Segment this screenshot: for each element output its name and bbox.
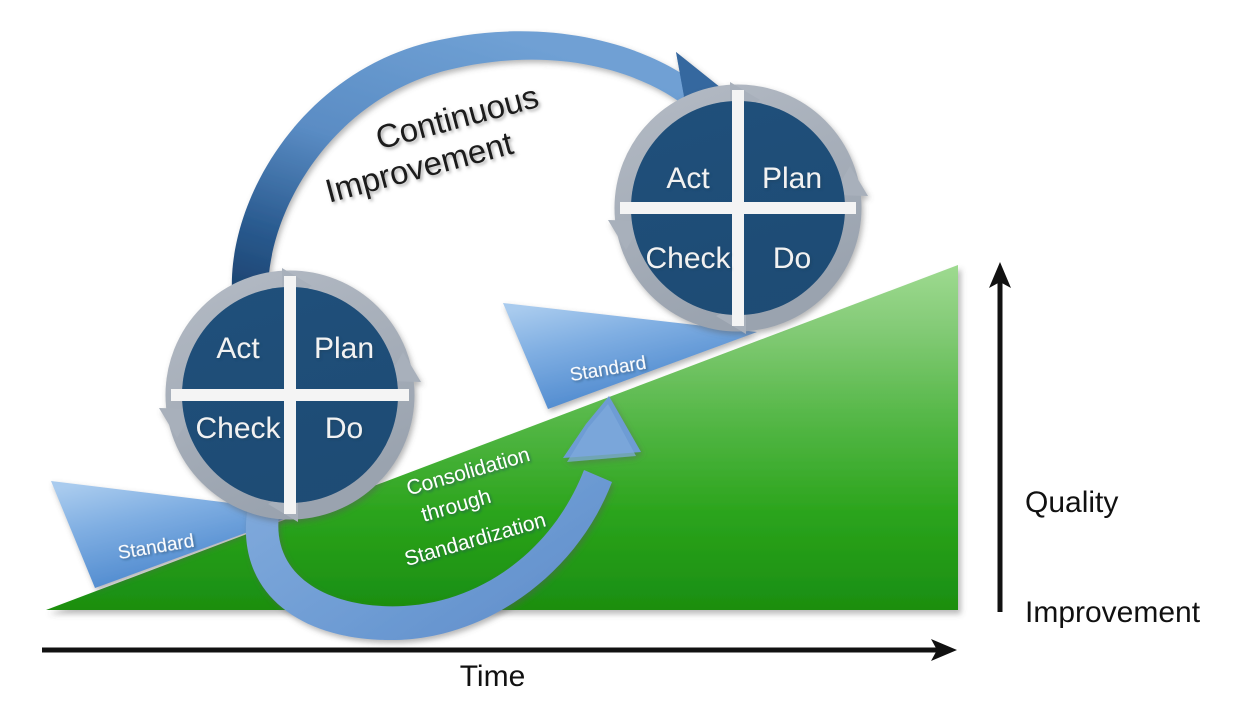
pdca-quadrant-check-lower: Check <box>195 412 281 445</box>
y-axis-label-line2: Improvement <box>1025 595 1200 632</box>
y-axis-label: Quality Improvement <box>1025 412 1200 705</box>
y-axis-label-line1: Quality <box>1025 485 1200 522</box>
x-axis-label: Time <box>0 660 985 694</box>
pdca-quadrant-plan-upper: Plan <box>762 162 822 195</box>
pdca-quadrant-act-lower: Act <box>216 332 260 365</box>
y-axis <box>989 262 1011 612</box>
pdca-continuous-improvement-diagram: Standard Standard <box>0 0 1245 727</box>
x-axis <box>42 639 957 661</box>
pdca-quadrant-do-upper: Do <box>773 242 811 275</box>
pdca-quadrant-plan-lower: Plan <box>314 332 374 365</box>
pdca-quadrant-check-upper: Check <box>645 242 731 275</box>
pdca-quadrant-act-upper: Act <box>666 162 710 195</box>
pdca-quadrant-do-lower: Do <box>325 412 363 445</box>
pdca-cycle-upper-right: Act Plan Check Do <box>608 82 868 334</box>
